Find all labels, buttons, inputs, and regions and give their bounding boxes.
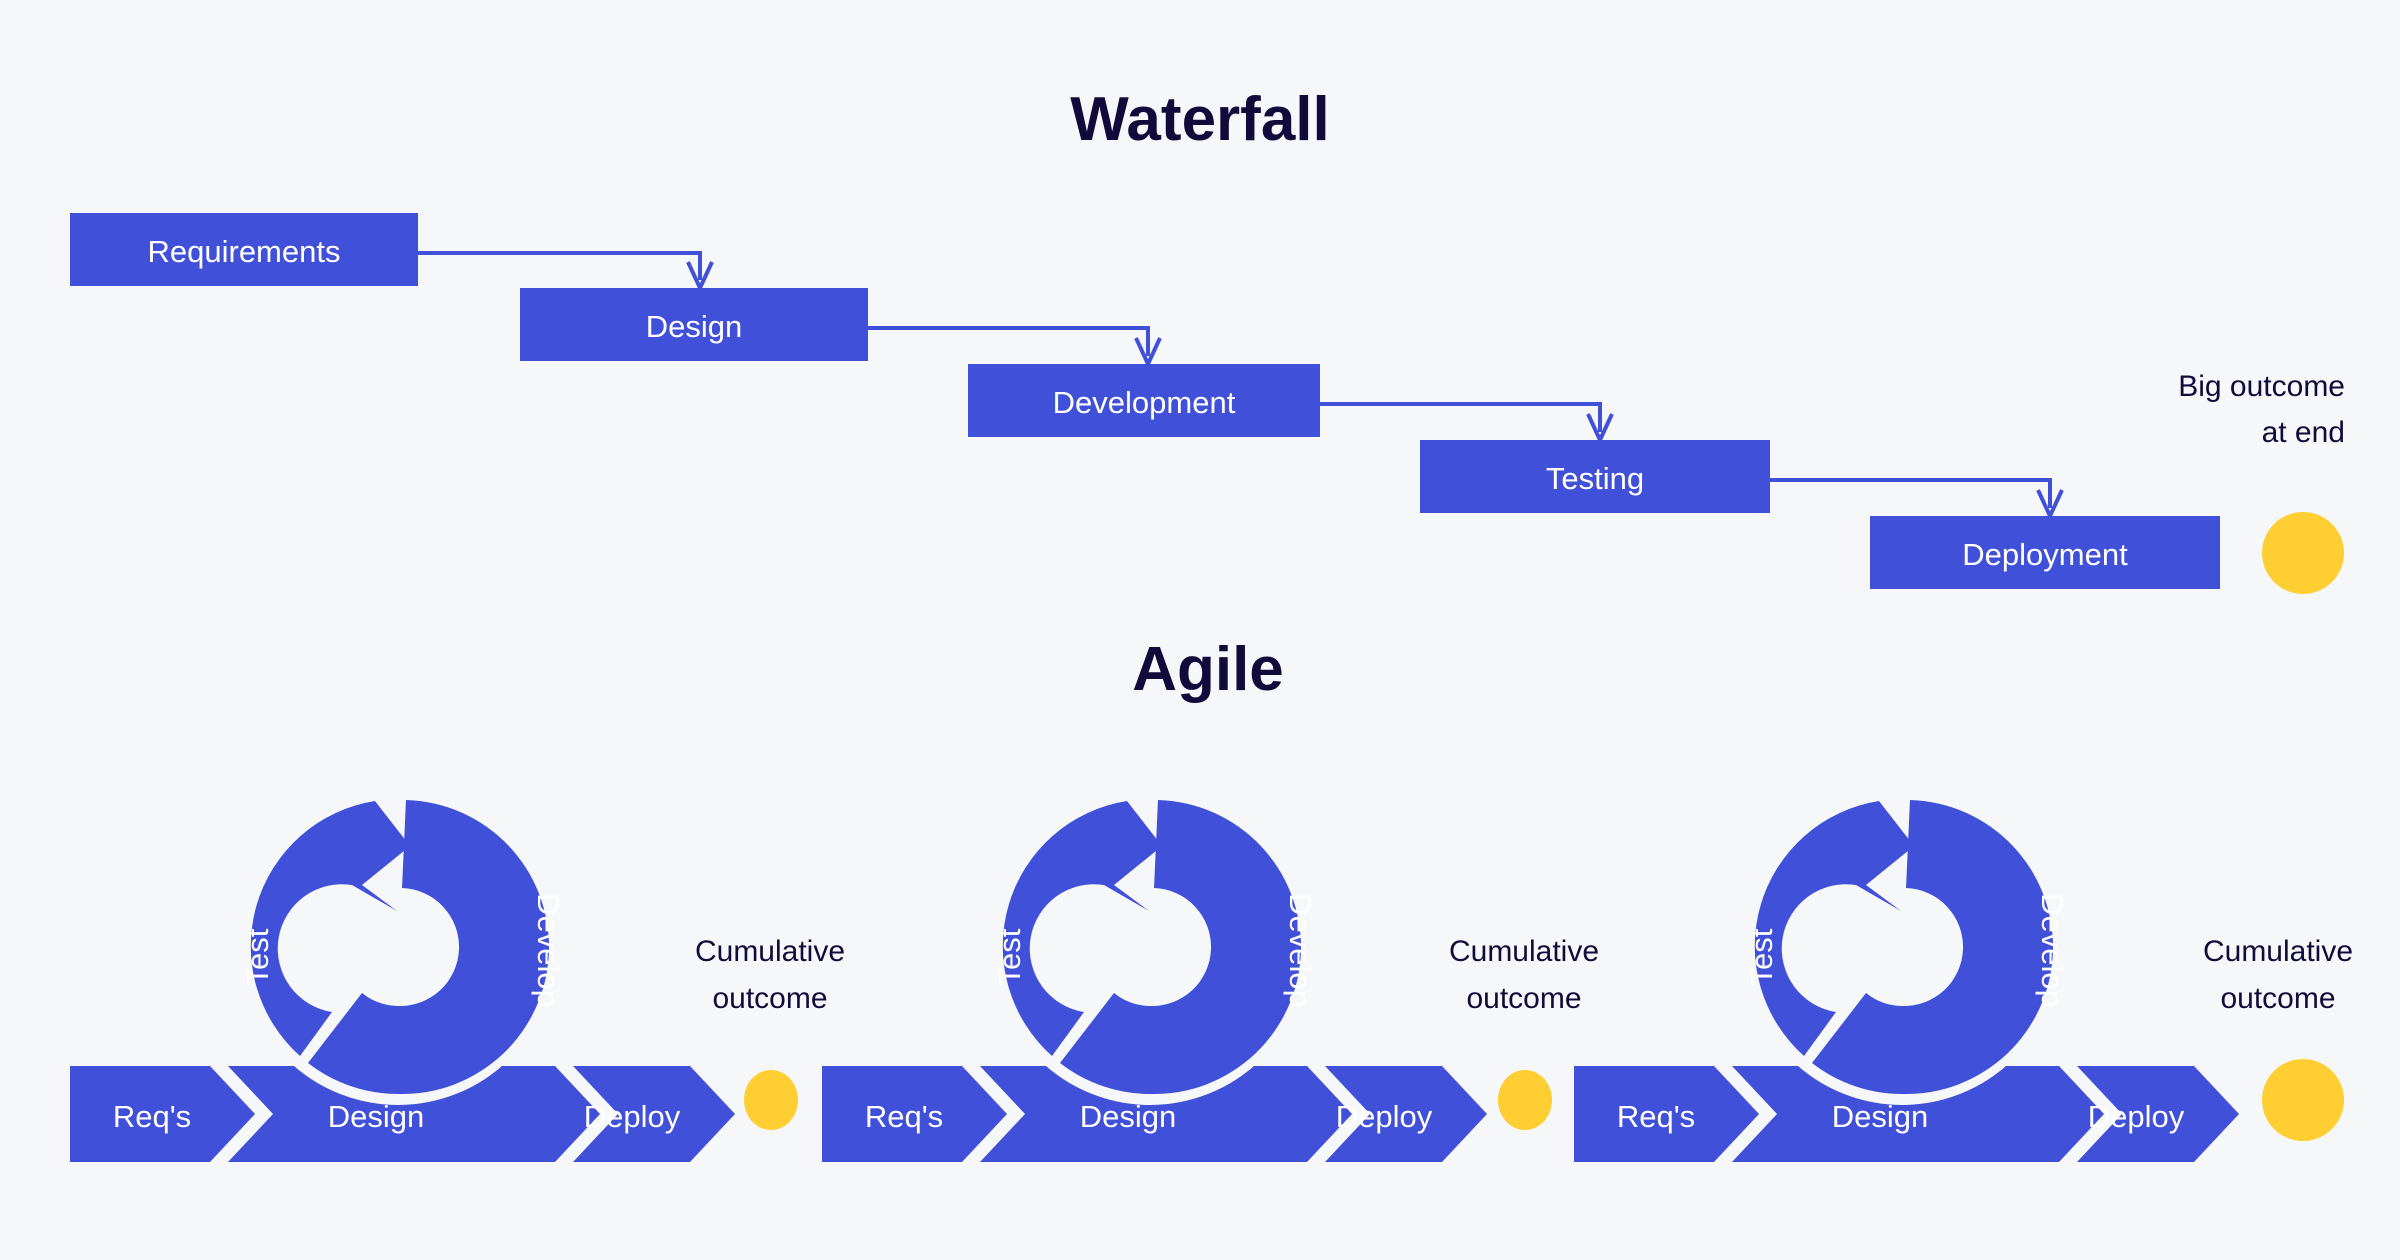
chevron-label-reqs: Req's — [865, 1099, 943, 1134]
chevron-label-reqs: Req's — [113, 1099, 191, 1134]
ring-label-develop: Develop — [1283, 893, 1318, 1007]
agile-iteration-ring: Test Develop — [240, 800, 566, 1094]
agile-iteration-ring: Test Develop — [992, 800, 1318, 1094]
agile-outcome-dot — [2262, 1059, 2344, 1141]
chevron-label-deploy: Deploy — [2088, 1099, 2185, 1134]
cumulative-outcome-line1: Cumulative — [2203, 935, 2353, 968]
cumulative-outcome-line2: outcome — [1466, 982, 1581, 1015]
diagram-canvas: Waterfall Requirements Design — [0, 0, 2400, 1260]
agile-section: Agile Req's Design Deploy Test De — [0, 0, 2400, 1260]
agile-iteration-ring: Test Develop — [1744, 800, 2070, 1094]
agile-outcome-dot — [1498, 1070, 1552, 1130]
ring-label-test: Test — [1744, 928, 1779, 985]
ring-label-test: Test — [240, 928, 275, 985]
agile-cycle-1: Req's Design Deploy Test Develop Cumulat… — [70, 800, 845, 1162]
chevron-label-deploy: Deploy — [1336, 1099, 1433, 1134]
cumulative-outcome-line1: Cumulative — [695, 935, 845, 968]
ring-label-develop: Develop — [2035, 893, 2070, 1007]
ring-label-develop: Develop — [531, 893, 566, 1007]
agile-cycle-3: Req's Design Deploy Test Develop Cumulat… — [1574, 800, 2353, 1162]
cumulative-outcome-line1: Cumulative — [1449, 935, 1599, 968]
ring-label-test: Test — [992, 928, 1027, 985]
agile-cycle-2: Req's Design Deploy Test Develop Cumulat… — [822, 800, 1599, 1162]
chevron-label-deploy: Deploy — [584, 1099, 681, 1134]
cumulative-outcome-line2: outcome — [712, 982, 827, 1015]
agile-title: Agile — [1132, 635, 1284, 704]
chevron-label-reqs: Req's — [1617, 1099, 1695, 1134]
cumulative-outcome-line2: outcome — [2220, 982, 2335, 1015]
agile-outcome-dot — [744, 1070, 798, 1130]
